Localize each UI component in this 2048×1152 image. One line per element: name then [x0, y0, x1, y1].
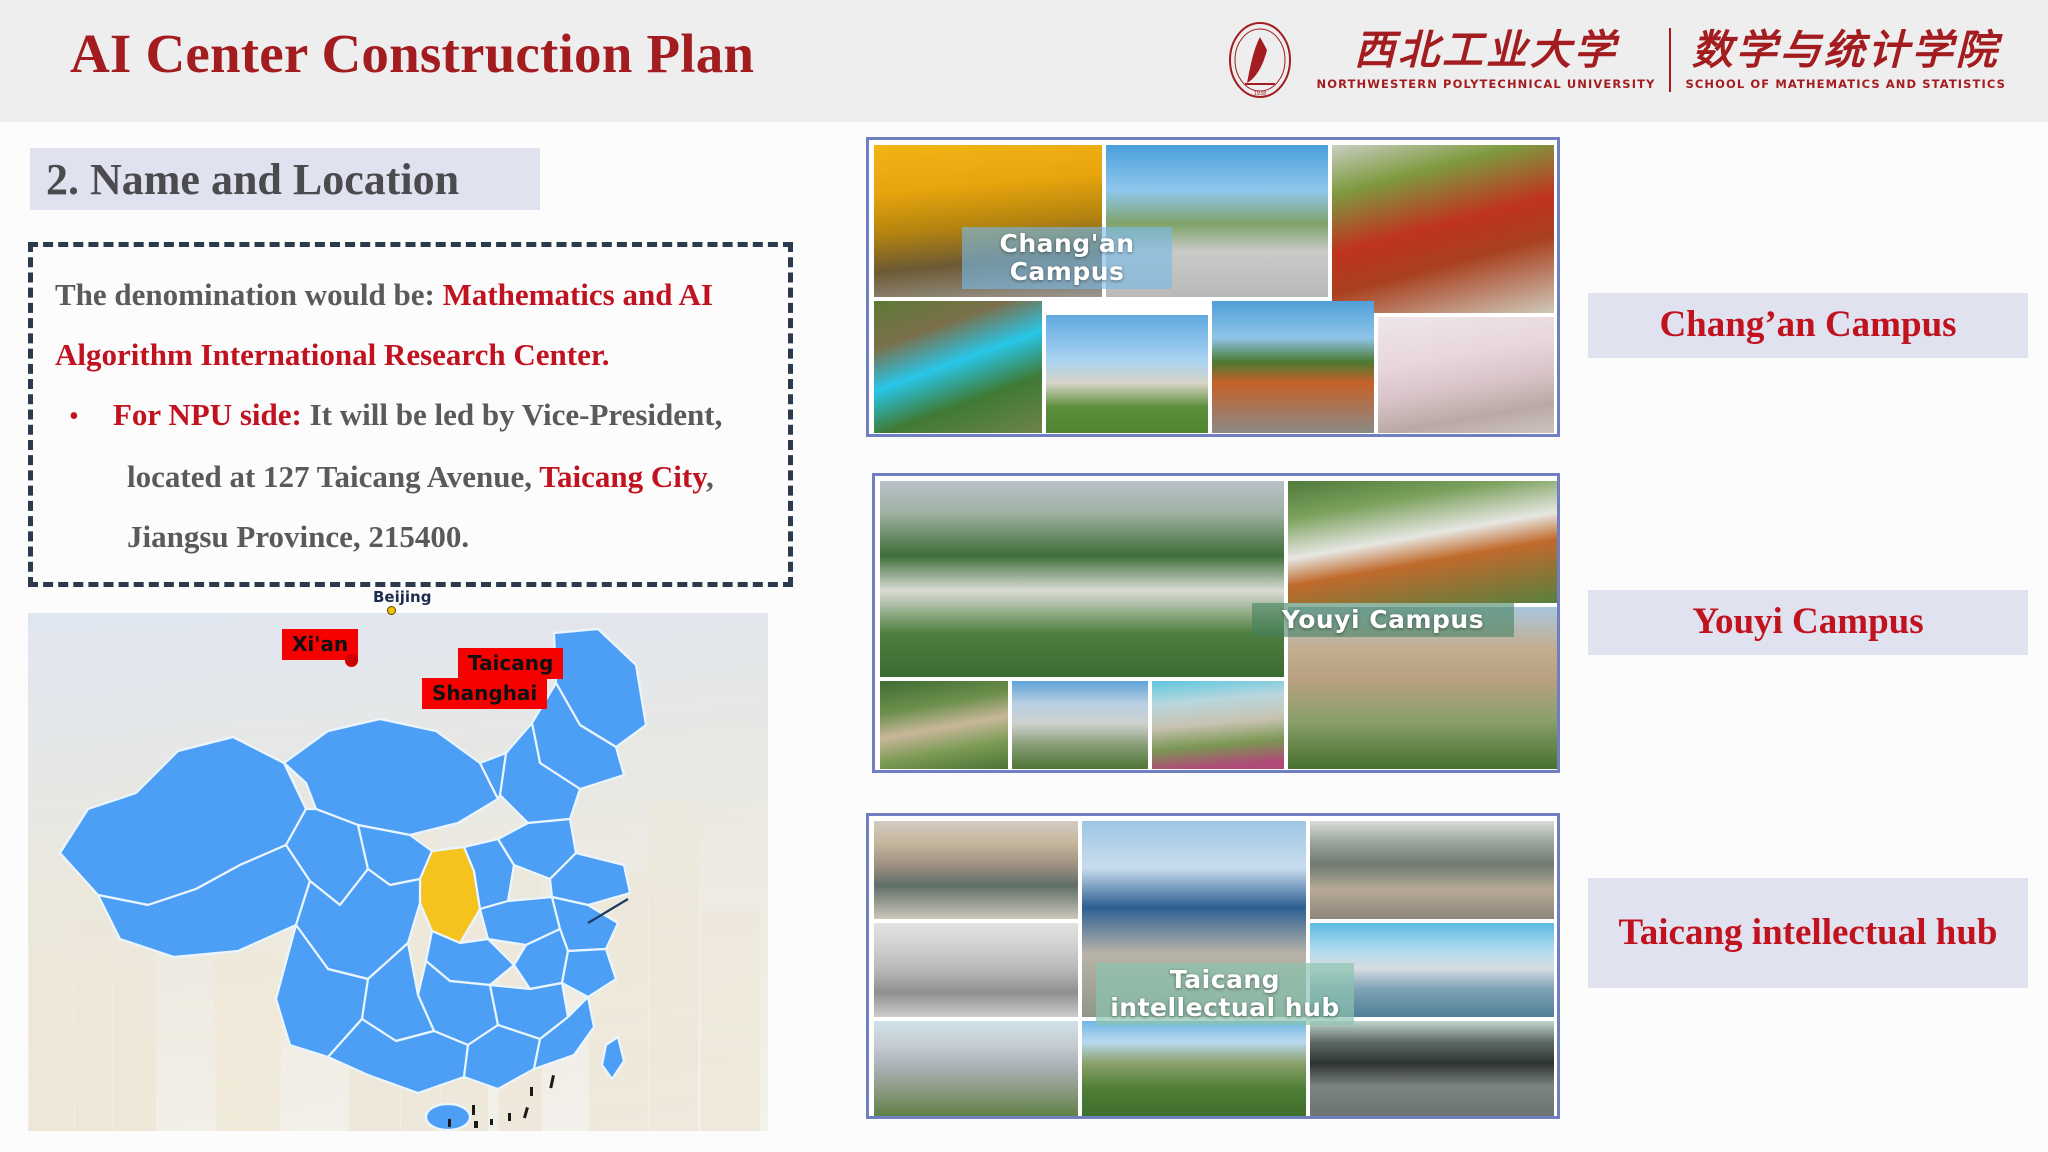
side-label-youyi: Youyi Campus [1588, 590, 2028, 655]
photo-campus-building-walkway [874, 1021, 1078, 1117]
china-map-outline [28, 613, 768, 1131]
logo-university-cn: 西北工业大学 [1354, 29, 1618, 72]
textbox-accent-2: For NPU side: [113, 397, 302, 432]
slide-canvas: AI Center Construction Plan 1938 西北工业大学 … [0, 0, 2048, 1152]
denomination-textbox: The denomination would be: Mathematics a… [28, 242, 793, 587]
logo-divider [1669, 28, 1671, 92]
textbox-bullet-text-1: It will be led by Vice-President, [302, 397, 722, 432]
photo-sail-monument-sculpture [1046, 315, 1208, 433]
side-label-changan: Chang’an Campus [1588, 293, 2028, 358]
xian-marker-dot [345, 654, 358, 667]
slide-header: AI Center Construction Plan 1938 西北工业大学 … [0, 0, 2048, 122]
collage-caption-changan: Chang'an Campus [962, 227, 1172, 289]
svg-text:1938: 1938 [1253, 91, 1266, 97]
photo-glass-wall-lounge [1310, 821, 1554, 919]
photo-peony-garden-building [1152, 681, 1284, 769]
photo-old-building-lawn [880, 681, 1008, 769]
npu-logo-lockup: 1938 西北工业大学 NORTHWESTERN POLYTECHNICAL U… [1223, 14, 2016, 106]
logo-university-block: 西北工业大学 NORTHWESTERN POLYTECHNICAL UNIVER… [1307, 20, 1666, 100]
taicang-hub-collage: Taicang intellectual hub [866, 813, 1560, 1119]
textbox-accent-1: Mathematics and AI [443, 277, 713, 312]
caption-line-1: Taicang [1106, 966, 1344, 994]
textbox-bullet-text-2a: located at 127 Taicang Avenue, [127, 459, 539, 494]
map-label-beijing: Beijing [373, 588, 431, 606]
collage-caption-taicang: Taicang intellectual hub [1096, 963, 1354, 1025]
side-label-taicang: Taicang intellectual hub [1588, 878, 2028, 988]
photo-aerial-blue-pagoda-garden [874, 301, 1042, 433]
china-map [28, 613, 768, 1131]
textbox-bullet-row: • For NPU side: It will be led by Vice-P… [55, 385, 766, 447]
photo-aerial-main-building [880, 481, 1284, 677]
collage-caption-youyi: Youyi Campus [1252, 603, 1514, 637]
photo-teaching-building [1012, 681, 1148, 769]
beijing-marker-dot [387, 606, 396, 615]
textbox-line-5: Jiangsu Province, 215400. [55, 507, 766, 567]
photo-cherry-blossom-trees [1378, 317, 1554, 433]
photo-paper-plane-sculpture [1288, 481, 1560, 603]
textbox-line-3: For NPU side: It will be led by Vice-Pre… [113, 385, 722, 445]
bullet-dot-icon: • [55, 387, 113, 447]
caption-line-2: intellectual hub [1106, 994, 1344, 1022]
youyi-campus-collage: Youyi Campus [872, 473, 1560, 773]
caption-line-1: Chang'an [972, 230, 1162, 258]
caption-line-2: Campus [972, 258, 1162, 286]
logo-university-en: NORTHWESTERN POLYTECHNICAL UNIVERSITY [1317, 77, 1656, 91]
logo-school-cn: 数学与统计学院 [1692, 29, 2000, 72]
photo-red-maple-plaza [1332, 145, 1554, 313]
npu-seal-icon: 1938 [1223, 20, 1297, 100]
textbox-accent-3: Taicang City [539, 459, 706, 494]
caption-line-1: Youyi Campus [1262, 606, 1504, 634]
photo-fencing-training-hall [874, 923, 1078, 1017]
photo-library-study-lounge [874, 821, 1078, 919]
logo-school-block: 数学与统计学院 SCHOOL OF MATHEMATICS AND STATIS… [1675, 20, 2016, 100]
textbox-line-4: located at 127 Taicang Avenue, Taicang C… [55, 447, 766, 507]
changan-campus-collage: Chang'an Campus [866, 137, 1560, 437]
section-header: 2. Name and Location [30, 148, 540, 210]
photo-npu-love-taicang-sign [1082, 1021, 1306, 1117]
textbox-line-1: The denomination would be: Mathematics a… [55, 265, 766, 325]
section-header-label: 2. Name and Location [30, 154, 459, 205]
photo-aircraft-globe-sculpture [1212, 301, 1374, 433]
photo-classroom-presentation [1310, 1021, 1554, 1117]
textbox-lead-text: The denomination would be: [55, 277, 443, 312]
textbox-bullet-text-2c: , [706, 459, 714, 494]
logo-school-en: SCHOOL OF MATHEMATICS AND STATISTICS [1685, 77, 2006, 91]
page-title: AI Center Construction Plan [70, 22, 754, 85]
map-label-taicang: Taicang [458, 648, 563, 679]
textbox-line-2: Algorithm International Research Center. [55, 325, 766, 385]
map-label-shanghai: Shanghai [422, 678, 547, 709]
